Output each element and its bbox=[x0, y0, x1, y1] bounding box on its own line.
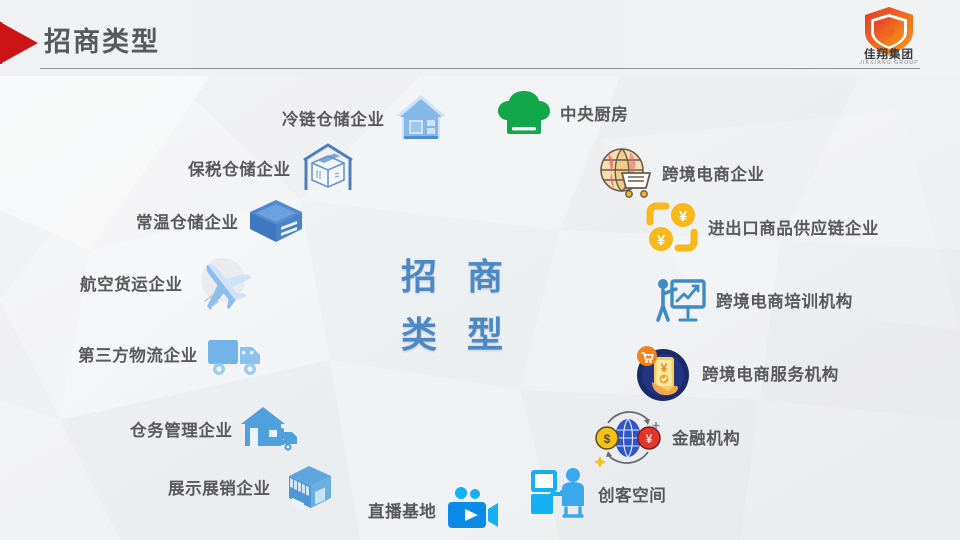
item-label: 创客空间 bbox=[598, 482, 666, 506]
svg-text:¥: ¥ bbox=[679, 208, 688, 225]
center-title-line1: 招 商 bbox=[382, 248, 522, 306]
yen-exchange-icon: ¥ ¥ bbox=[644, 200, 700, 254]
warehouse-solid-icon bbox=[247, 196, 305, 246]
currency-exchange-icon: $ ¥ bbox=[592, 404, 664, 470]
item-exhibition-sales[interactable]: 展示展销企业 bbox=[168, 462, 337, 512]
delivery-truck-icon bbox=[206, 330, 266, 378]
svg-text:¥: ¥ bbox=[661, 361, 668, 375]
item-cross-border-ecommerce[interactable]: 跨境电商企业 bbox=[594, 146, 765, 200]
center-title-line2: 类 型 bbox=[382, 306, 522, 364]
item-label: 保税仓储企业 bbox=[188, 156, 291, 180]
item-bonded-warehouse[interactable]: 保税仓储企业 bbox=[188, 142, 357, 194]
video-camera-icon bbox=[444, 485, 500, 535]
storefront-icon bbox=[279, 462, 337, 512]
training-board-icon bbox=[652, 274, 708, 326]
warehouse-box-icon bbox=[299, 142, 357, 194]
item-label: 仓务管理企业 bbox=[130, 417, 233, 441]
item-label: 跨境电商服务机构 bbox=[702, 361, 839, 385]
item-label: 直播基地 bbox=[368, 498, 436, 522]
item-financial-institution[interactable]: $ ¥ 金融机构 bbox=[592, 404, 740, 470]
item-import-export-supply-chain[interactable]: ¥ ¥ 进出口商品供应链企业 bbox=[644, 200, 879, 254]
house-blue-icon bbox=[393, 92, 449, 144]
item-maker-space[interactable]: 创客空间 bbox=[528, 466, 666, 522]
item-label: 跨境电商企业 bbox=[662, 161, 765, 185]
logo-name-en: JIAXIANG GROUP bbox=[846, 60, 932, 66]
mobile-payment-icon: ¥ bbox=[630, 342, 694, 404]
svg-text:$: $ bbox=[604, 432, 611, 446]
slide-canvas: 招商类型 佳翔集团 JIAXIANG GROUP 招 商 类 型 冷链仓储企业 bbox=[0, 0, 960, 540]
center-title: 招 商 类 型 bbox=[382, 248, 522, 364]
item-warehouse-management[interactable]: 仓务管理企业 bbox=[130, 404, 303, 454]
item-ecommerce-service[interactable]: ¥ 跨境电商服务机构 bbox=[630, 342, 839, 404]
item-central-kitchen[interactable]: 中央厨房 bbox=[496, 88, 628, 138]
house-truck-icon bbox=[241, 404, 303, 454]
item-ambient-warehouse[interactable]: 常温仓储企业 bbox=[136, 196, 305, 246]
page-title: 招商类型 bbox=[44, 24, 160, 60]
chef-hat-icon bbox=[496, 88, 552, 138]
item-air-freight[interactable]: 航空货运企业 bbox=[80, 255, 253, 311]
item-cold-chain-warehouse[interactable]: 冷链仓储企业 bbox=[282, 92, 449, 144]
item-label: 跨境电商培训机构 bbox=[716, 288, 853, 312]
workspace-person-icon bbox=[528, 466, 590, 522]
globe-cart-icon bbox=[594, 146, 654, 200]
item-ecommerce-training[interactable]: 跨境电商培训机构 bbox=[652, 274, 853, 326]
item-label: 航空货运企业 bbox=[80, 271, 183, 295]
red-arrow-icon bbox=[0, 22, 38, 64]
airplane-icon bbox=[191, 255, 253, 311]
item-label: 中央厨房 bbox=[560, 101, 628, 125]
item-label: 第三方物流企业 bbox=[78, 342, 198, 366]
item-label: 进出口商品供应链企业 bbox=[708, 215, 879, 239]
svg-text:¥: ¥ bbox=[657, 232, 666, 249]
item-label: 常温仓储企业 bbox=[136, 209, 239, 233]
item-label: 金融机构 bbox=[672, 425, 740, 449]
title-underline bbox=[40, 68, 920, 69]
item-third-party-logistics[interactable]: 第三方物流企业 bbox=[78, 330, 266, 378]
svg-text:¥: ¥ bbox=[646, 432, 653, 446]
item-livestream-base[interactable]: 直播基地 bbox=[368, 485, 500, 535]
item-label: 展示展销企业 bbox=[168, 475, 271, 499]
item-label: 冷链仓储企业 bbox=[282, 106, 385, 130]
